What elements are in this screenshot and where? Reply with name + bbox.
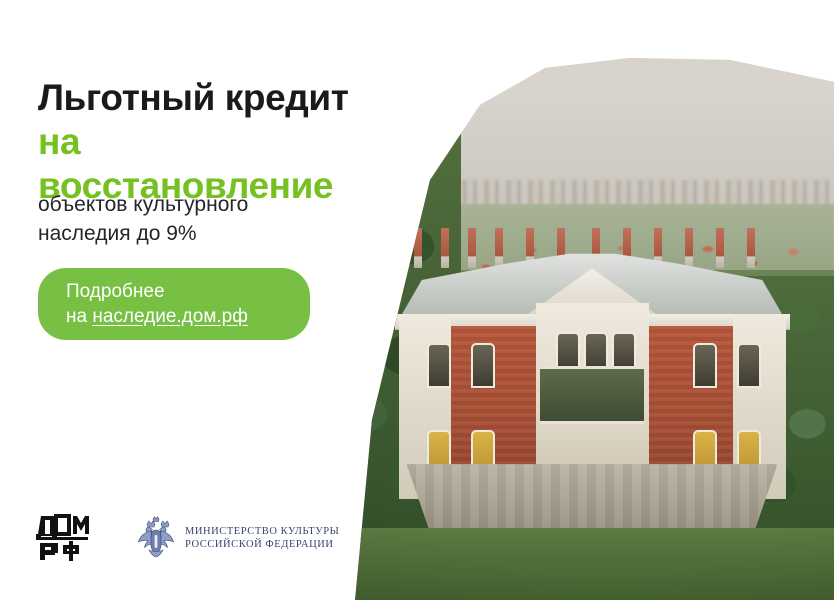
photo-vignette [330, 0, 834, 600]
ministry-name-line-1: МИНИСТЕРСТВО КУЛЬТУРЫ [185, 525, 339, 538]
cta-line-1: Подробнее [66, 279, 310, 304]
ministry-of-culture-logo: МИНИСТЕРСТВО КУЛЬТУРЫ РОССИЙСКОЙ ФЕДЕРАЦ… [136, 516, 339, 560]
content-column: Льготный кредит на восстановление объект… [0, 0, 400, 600]
dom-rf-logo [36, 514, 90, 562]
logo-row: МИНИСТЕРСТВО КУЛЬТУРЫ РОССИЙСКОЙ ФЕДЕРАЦ… [36, 514, 339, 562]
cta-line-2: на наследие.дом.рф [66, 304, 310, 329]
photo-canvas [330, 0, 834, 600]
learn-more-button[interactable]: Подробнее на наследие.дом.рф [38, 268, 310, 340]
heritage-mansion-photo [330, 0, 834, 600]
ministry-name: МИНИСТЕРСТВО КУЛЬТУРЫ РОССИЙСКОЙ ФЕДЕРАЦ… [185, 525, 339, 551]
ministry-name-line-2: РОССИЙСКОЙ ФЕДЕРАЦИИ [185, 538, 339, 551]
cta-url[interactable]: наследие.дом.рф [92, 306, 248, 327]
russian-double-headed-eagle-icon [136, 516, 176, 560]
cta-prefix: на [66, 306, 92, 327]
promo-banner: Льготный кредит на восстановление объект… [0, 0, 834, 600]
subheadline: объектов культурного наследия до 9% [38, 190, 338, 248]
subheadline-line-1: объектов культурного [38, 193, 248, 216]
page-title: Льготный кредит на восстановление [38, 76, 378, 208]
subheadline-line-2: наследия до 9% [38, 222, 197, 245]
headline-line-1: Льготный кредит [38, 77, 348, 118]
